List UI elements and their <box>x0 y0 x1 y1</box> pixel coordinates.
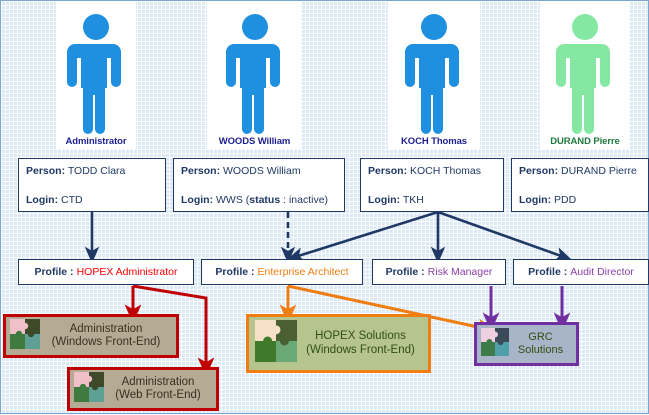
login-label: Login: <box>519 194 551 206</box>
puzzle-icon <box>74 372 104 407</box>
login-line: Login: WWS (status : inactive) <box>181 194 337 206</box>
person-card-koch-thomas[interactable]: KOCH Thomas <box>388 1 480 149</box>
person-value: DURAND Pierre <box>561 165 637 177</box>
solution-line2: (Windows Front-End) <box>40 336 172 349</box>
login-line: Login: CTD <box>26 194 158 206</box>
login-label: Login: <box>368 194 400 206</box>
solution-box-hopex-solutions[interactable]: HOPEX Solutions (Windows Front-End) <box>246 314 431 373</box>
solution-label: Administration (Web Front-End) <box>104 376 216 402</box>
person-label: Person: <box>181 165 220 177</box>
login-value: TKH <box>403 194 424 206</box>
person-name: DURAND Pierre <box>550 136 619 147</box>
person-value: TODD Clara <box>68 165 126 177</box>
person-name: KOCH Thomas <box>401 136 467 147</box>
person-card-administrator[interactable]: Administrator <box>56 1 136 149</box>
login-value: WWS ( <box>216 194 249 206</box>
info-box-koch-thomas[interactable]: Person: KOCH Thomas Login: TKH <box>360 158 504 212</box>
person-card-woods-william[interactable]: WOODS William <box>207 1 302 149</box>
wire-koch-to-audit-director <box>438 212 564 257</box>
diagram-canvas: Administrator WOODS William KOCH Thomas … <box>0 0 649 414</box>
login-value: CTD <box>61 194 83 206</box>
solution-line1: GRC <box>528 331 552 343</box>
profile-box-hopex-administrator[interactable]: Profile : HOPEX Administrator <box>18 259 194 285</box>
profile-label: Profile : <box>34 266 73 278</box>
puzzle-icon <box>255 320 297 367</box>
person-line: Person: WOODS William <box>181 165 337 177</box>
person-label: Person: <box>519 165 558 177</box>
login-label: Login: <box>26 194 58 206</box>
login-line: Login: TKH <box>368 194 496 206</box>
profile-label: Profile : <box>386 266 425 278</box>
puzzle-icon <box>481 328 509 361</box>
profile-box-enterprise-architect[interactable]: Profile : Enterprise Architect <box>201 259 363 285</box>
puzzle-icon <box>10 319 40 354</box>
person-icon <box>554 13 616 135</box>
person-label: Person: <box>368 165 407 177</box>
profile-value: Risk Manager <box>428 266 493 278</box>
profile-box-audit-director[interactable]: Profile : Audit Director <box>513 259 649 285</box>
profile-value: Enterprise Architect <box>258 266 349 278</box>
person-value: WOODS William <box>223 165 301 177</box>
solution-box-administration-web[interactable]: Administration (Web Front-End) <box>67 367 219 411</box>
info-box-todd-clara[interactable]: Person: TODD Clara Login: CTD <box>18 158 166 212</box>
status-value: : inactive) <box>280 194 328 206</box>
info-box-durand-pierre[interactable]: Person: DURAND Pierre Login: PDD <box>511 158 649 212</box>
solution-box-administration-windows[interactable]: Administration (Windows Front-End) <box>3 314 179 358</box>
solution-label: Administration (Windows Front-End) <box>40 323 176 349</box>
person-name: WOODS William <box>219 136 290 147</box>
wire-koch-to-enterprise-architect <box>295 212 438 257</box>
solution-line1: Administration <box>70 323 143 335</box>
profile-label: Profile : <box>528 266 567 278</box>
solution-line2: (Web Front-End) <box>104 389 212 402</box>
solution-line1: HOPEX Solutions <box>315 330 406 342</box>
person-value: KOCH Thomas <box>410 165 481 177</box>
login-label: Login: <box>181 194 213 206</box>
person-line: Person: DURAND Pierre <box>519 165 641 177</box>
solution-label: GRC Solutions <box>509 331 576 356</box>
person-line: Person: KOCH Thomas <box>368 165 496 177</box>
person-icon <box>224 13 286 135</box>
solution-line1: Administration <box>122 376 195 388</box>
person-name: Administrator <box>66 136 127 147</box>
person-icon <box>403 13 465 135</box>
solution-line2: (Windows Front-End) <box>297 344 424 357</box>
login-value: PDD <box>554 194 576 206</box>
profile-box-risk-manager[interactable]: Profile : Risk Manager <box>372 259 506 285</box>
person-line: Person: TODD Clara <box>26 165 158 177</box>
person-icon <box>65 13 127 135</box>
profile-value: HOPEX Administrator <box>77 266 178 278</box>
status-label: status <box>249 194 280 206</box>
info-box-woods-william[interactable]: Person: WOODS William Login: WWS (status… <box>173 158 345 212</box>
solution-label: HOPEX Solutions (Windows Front-End) <box>297 330 428 356</box>
solution-box-grc-solutions[interactable]: GRC Solutions <box>474 322 579 366</box>
profile-value: Audit Director <box>570 266 634 278</box>
person-card-durand-pierre[interactable]: DURAND Pierre <box>540 1 630 149</box>
solution-line2: Solutions <box>509 344 572 357</box>
profile-label: Profile : <box>215 266 254 278</box>
login-line: Login: PDD <box>519 194 641 206</box>
person-label: Person: <box>26 165 65 177</box>
